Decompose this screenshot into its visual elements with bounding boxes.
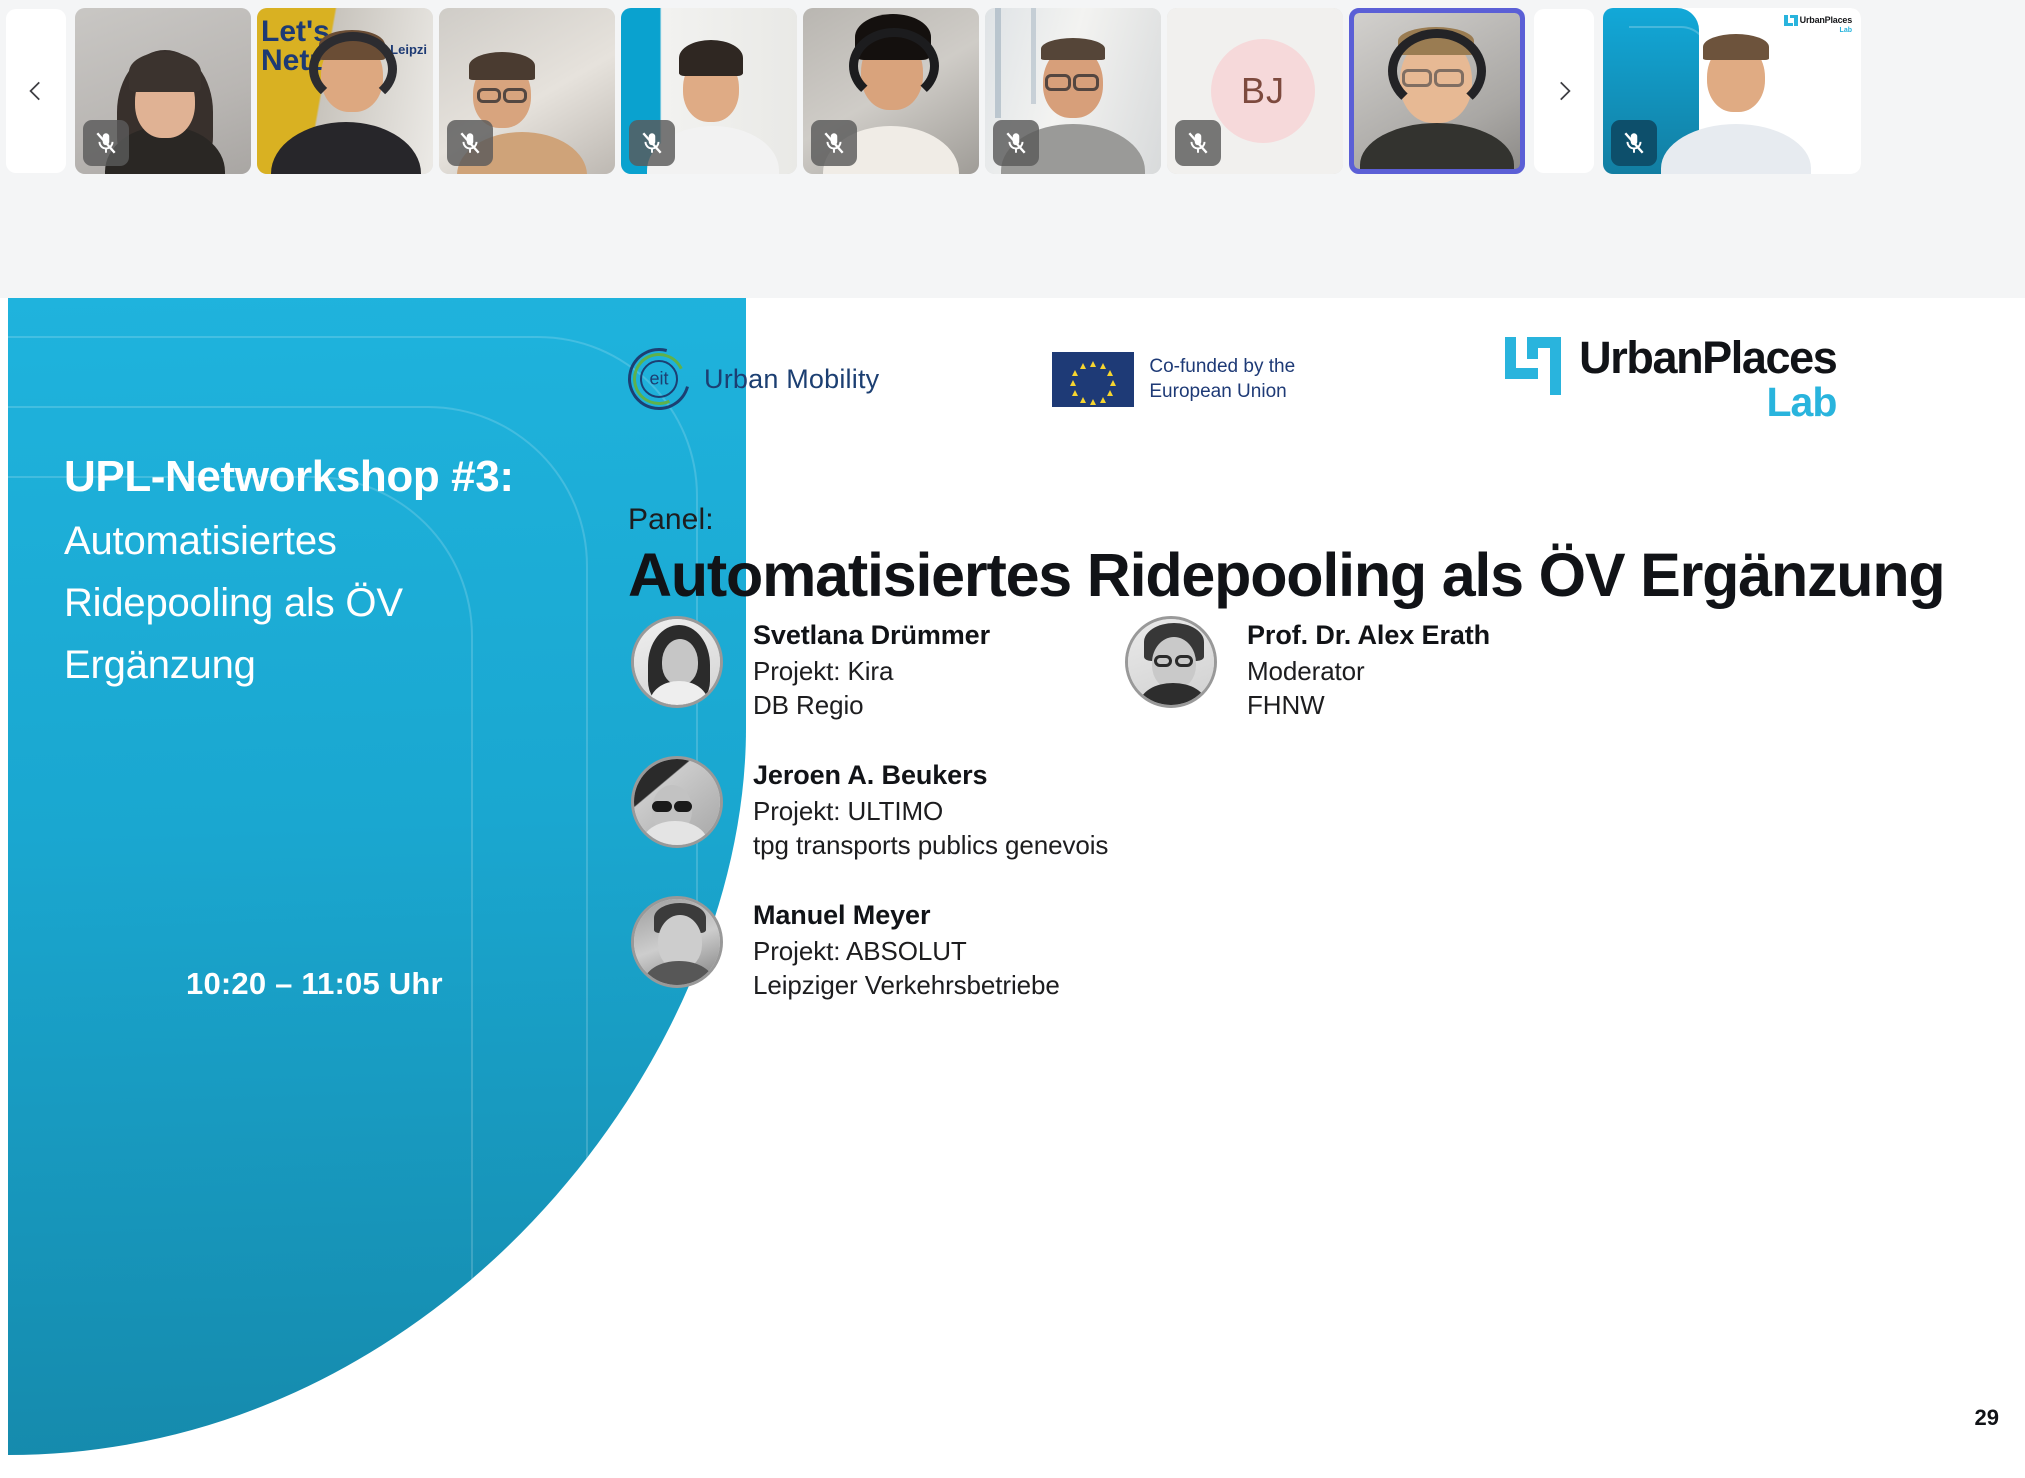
session-time: 10:20 – 11:05 Uhr	[186, 966, 443, 1002]
urbanplaces-lab-logo: UrbanPlaces Lab	[1784, 15, 1852, 34]
participant-tile[interactable]	[621, 8, 797, 174]
participant-tile[interactable]: BJ	[1167, 8, 1343, 174]
bottom-background	[0, 1455, 2025, 1478]
speaker-entry: Manuel Meyer Projekt: ABSOLUT Leipziger …	[631, 896, 1060, 1003]
participant-tile-active-speaker[interactable]	[1349, 8, 1525, 174]
speaker-info: Manuel Meyer Projekt: ABSOLUT Leipziger …	[753, 896, 1060, 1003]
scroll-right-button[interactable]	[1534, 9, 1594, 173]
upl-logo-word2: Lab	[1840, 27, 1852, 34]
speaker-project: Projekt: Kira	[753, 654, 990, 689]
chevron-right-icon	[1551, 78, 1577, 104]
video-frame: Let'sNetz Leipzi	[257, 8, 433, 174]
mic-muted-badge	[83, 120, 129, 166]
speaker-organisation: DB Regio	[753, 688, 990, 723]
microphone-muted-icon	[1003, 130, 1029, 156]
speaker-name: Manuel Meyer	[753, 898, 1060, 934]
upl-logo-word2: Lab	[1766, 382, 1836, 423]
participant-tile[interactable]: UrbanPlaces Lab	[1603, 8, 1861, 174]
participant-tile[interactable]	[803, 8, 979, 174]
speaker-info: Prof. Dr. Alex Erath Moderator FHNW	[1247, 616, 1490, 723]
upl-mark-icon	[1505, 337, 1573, 399]
mic-muted-badge	[993, 120, 1039, 166]
scroll-left-button[interactable]	[6, 9, 66, 173]
participant-tile[interactable]	[985, 8, 1161, 174]
speaker-name: Jeroen A. Beukers	[753, 758, 1108, 794]
eu-logo-line2: European Union	[1149, 379, 1295, 404]
microphone-muted-icon	[1621, 130, 1647, 156]
speaker-photo	[631, 756, 723, 848]
mic-muted-badge	[629, 120, 675, 166]
speaker-name: Svetlana Drümmer	[753, 618, 990, 654]
speaker-entry: Prof. Dr. Alex Erath Moderator FHNW	[1125, 616, 1490, 723]
participant-tile[interactable]	[439, 8, 615, 174]
eit-urban-mobility-logo: eit Urban Mobility	[628, 348, 879, 410]
speaker-photo	[631, 896, 723, 988]
speaker-entry: Jeroen A. Beukers Projekt: ULTIMO tpg tr…	[631, 756, 1108, 863]
video-participant-strip: Let'sNetz Leipzi	[0, 0, 2025, 182]
workshop-title: UPL-Networkshop #3:	[64, 446, 684, 508]
eu-logo-text: Co-funded by the European Union	[1149, 354, 1295, 405]
speaker-name: Prof. Dr. Alex Erath	[1247, 618, 1490, 654]
speaker-info: Svetlana Drümmer Projekt: Kira DB Regio	[753, 616, 990, 723]
upl-logo-word1: UrbanPlaces	[1579, 335, 1836, 380]
microphone-muted-icon	[639, 130, 665, 156]
eit-logo-text: Urban Mobility	[704, 364, 879, 395]
speaker-organisation: tpg transports publics genevois	[753, 828, 1108, 863]
workshop-subtitle-line-1: Automatisiertes	[64, 510, 684, 572]
mic-muted-badge	[1175, 120, 1221, 166]
upl-mark-icon	[1784, 15, 1798, 26]
avatar-initials: BJ	[1211, 39, 1315, 143]
eu-logo-line1: Co-funded by the	[1149, 354, 1295, 379]
workshop-subtitle-line-3: Ergänzung	[64, 634, 684, 696]
participant-tile[interactable]	[75, 8, 251, 174]
eit-mark-icon: eit	[628, 348, 690, 410]
urbanplaces-lab-logo: UrbanPlaces Lab	[1505, 335, 1836, 423]
speaker-project: Projekt: ABSOLUT	[753, 934, 1060, 969]
mic-muted-badge	[447, 120, 493, 166]
slide-page-number: 29	[1975, 1405, 1999, 1431]
eu-flag-icon	[1052, 352, 1134, 407]
microphone-muted-icon	[1185, 130, 1211, 156]
mic-muted-badge	[811, 120, 857, 166]
panel-title: Automatisiertes Ridepooling als ÖV Ergän…	[628, 541, 1948, 610]
upl-logo-wordmark: UrbanPlaces Lab	[1579, 335, 1836, 423]
speaker-photo	[631, 616, 723, 708]
strip-background-gap	[0, 182, 2025, 298]
presentation-slide: UPL-Networkshop #3: Automatisiertes Ride…	[8, 298, 2017, 1455]
speaker-entry: Svetlana Drümmer Projekt: Kira DB Regio	[631, 616, 990, 723]
speaker-photo	[1125, 616, 1217, 708]
eu-cofunded-logo: Co-funded by the European Union	[1052, 352, 1295, 407]
speaker-project: Projekt: ULTIMO	[753, 794, 1108, 829]
upl-logo-word1: UrbanPlaces	[1800, 16, 1852, 25]
microphone-muted-icon	[821, 130, 847, 156]
microphone-muted-icon	[93, 130, 119, 156]
chevron-left-icon	[23, 78, 49, 104]
speaker-info: Jeroen A. Beukers Projekt: ULTIMO tpg tr…	[753, 756, 1108, 863]
speaker-role: Moderator	[1247, 654, 1490, 689]
workshop-subtitle-line-2: Ridepooling als ÖV	[64, 572, 684, 634]
microphone-muted-icon	[457, 130, 483, 156]
speaker-organisation: Leipziger Verkehrsbetriebe	[753, 968, 1060, 1003]
slide-left-text-block: UPL-Networkshop #3: Automatisiertes Ride…	[64, 446, 684, 696]
participant-tile[interactable]: Let'sNetz Leipzi	[257, 8, 433, 174]
mic-muted-badge	[1611, 120, 1657, 166]
panel-label: Panel:	[628, 503, 714, 537]
logo-row: eit Urban Mobility Co-funded by the	[628, 335, 1836, 423]
speaker-organisation: FHNW	[1247, 688, 1490, 723]
video-frame	[1354, 13, 1520, 169]
